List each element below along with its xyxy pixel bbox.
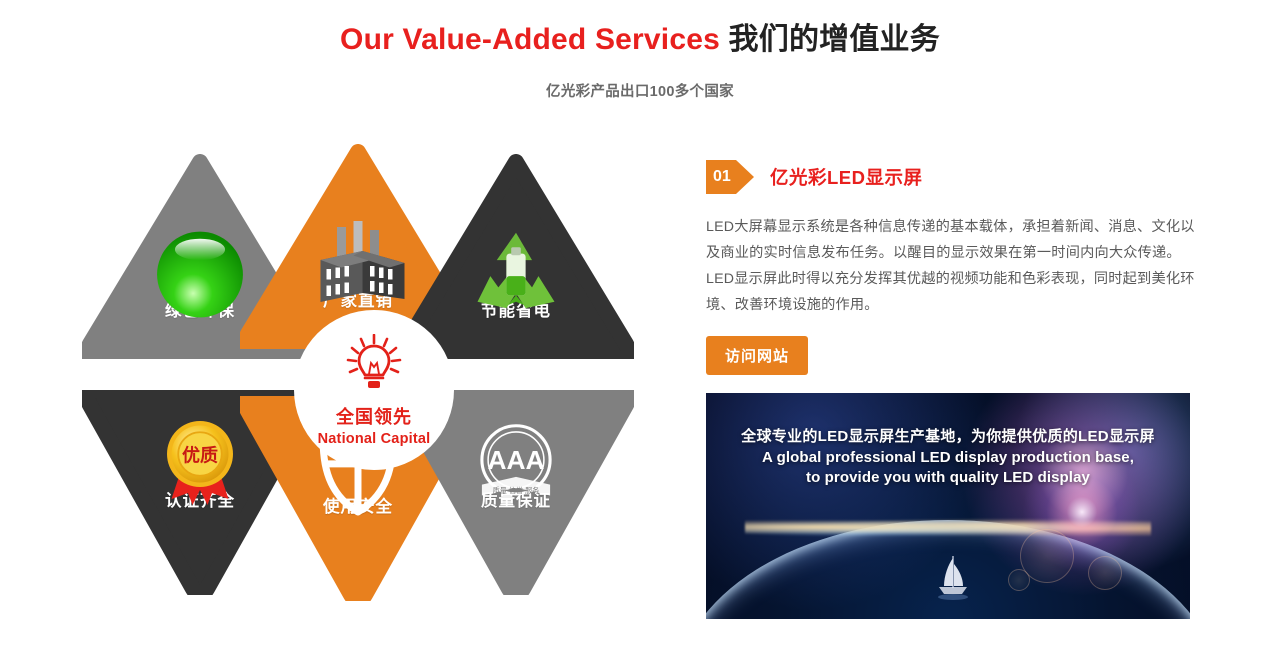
- banner-line-english-2: to provide you with quality LED display: [706, 469, 1190, 486]
- segment-power-saving[interactable]: 节能省电: [398, 154, 634, 359]
- section-heading-row: 01 亿光彩LED显示屏: [706, 160, 1206, 194]
- section-paragraph: LED大屏幕显示系统是各种信息传递的基本载体，承担着新闻、消息、文化以及商业的实…: [706, 214, 1196, 318]
- section-number: 01: [706, 168, 731, 186]
- sailing-ship-icon: [935, 556, 971, 605]
- page-header: Our Value-Added Services 我们的增值业务 亿光彩产品出口…: [0, 22, 1280, 101]
- page-subtitle: 亿光彩产品出口100多个国家: [0, 80, 1280, 101]
- page-title-chinese: 我们的增值业务: [729, 23, 940, 56]
- visit-website-button[interactable]: 访问网站: [706, 336, 808, 375]
- lightbulb-icon: [345, 334, 403, 399]
- section-number-badge: 01: [706, 160, 754, 194]
- value-hexagon-diagram: 绿色环保: [60, 140, 660, 640]
- banner-text-block: 全球专业的LED显示屏生产基地，为你提供优质的LED显示屏 A global p…: [706, 425, 1190, 486]
- center-title-chinese: 全国领先: [336, 403, 412, 429]
- section-title: 亿光彩LED显示屏: [770, 164, 923, 190]
- info-panel: 01 亿光彩LED显示屏 LED大屏幕显示系统是各种信息传递的基本载体，承担着新…: [706, 160, 1206, 375]
- diagram-center: 全国领先 National Capital: [294, 310, 454, 470]
- banner-line-chinese: 全球专业的LED显示屏生产基地，为你提供优质的LED显示屏: [706, 425, 1190, 446]
- page-root: Our Value-Added Services 我们的增值业务 亿光彩产品出口…: [0, 0, 1280, 645]
- banner-bokeh-circle: [1088, 556, 1122, 590]
- page-title-english: Our Value-Added Services: [340, 23, 720, 56]
- banner-line-english-1: A global professional LED display produc…: [706, 449, 1190, 466]
- page-title: Our Value-Added Services 我们的增值业务: [0, 22, 1280, 58]
- promo-banner[interactable]: 全球专业的LED显示屏生产基地，为你提供优质的LED显示屏 A global p…: [706, 393, 1190, 619]
- center-title-english: National Capital: [318, 431, 431, 447]
